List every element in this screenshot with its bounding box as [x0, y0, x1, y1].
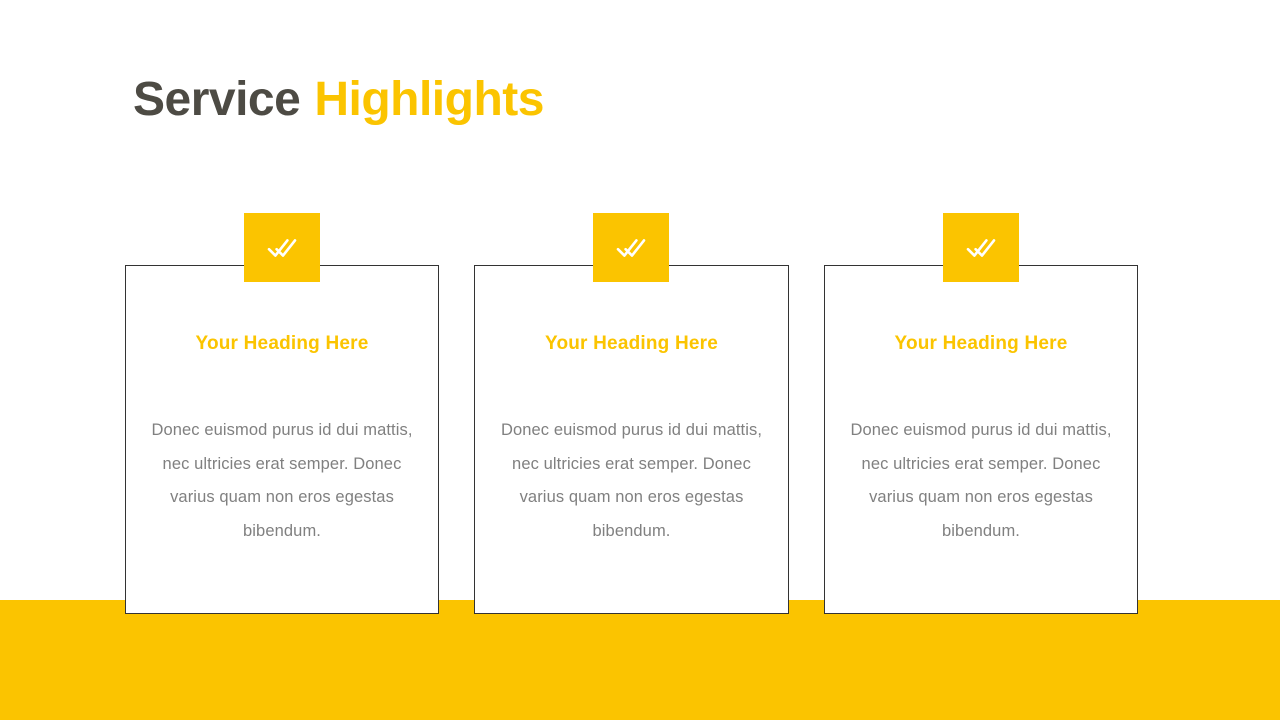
card-icon-badge[interactable]: [943, 213, 1019, 282]
service-card[interactable]: Your Heading Here Donec euismod purus id…: [824, 265, 1138, 614]
page-title-primary: Service: [133, 73, 300, 126]
card-icon-badge[interactable]: [593, 213, 669, 282]
bottom-accent-band: [0, 600, 1280, 720]
service-card[interactable]: Your Heading Here Donec euismod purus id…: [474, 265, 789, 614]
double-check-icon: [267, 237, 297, 259]
card-body-text: Donec euismod purus id dui mattis, nec u…: [140, 414, 424, 548]
page-title-accent: Highlights: [314, 73, 544, 126]
card-body-text: Donec euismod purus id dui mattis, nec u…: [489, 414, 774, 548]
card-heading: Your Heading Here: [825, 332, 1137, 356]
page-title: ServiceHighlights: [133, 68, 544, 132]
service-card[interactable]: Your Heading Here Donec euismod purus id…: [125, 265, 439, 614]
double-check-icon: [616, 237, 646, 259]
card-heading: Your Heading Here: [475, 332, 788, 356]
double-check-icon: [966, 237, 996, 259]
card-body-text: Donec euismod purus id dui mattis, nec u…: [839, 414, 1123, 548]
card-heading: Your Heading Here: [126, 332, 438, 356]
card-icon-badge[interactable]: [244, 213, 320, 282]
